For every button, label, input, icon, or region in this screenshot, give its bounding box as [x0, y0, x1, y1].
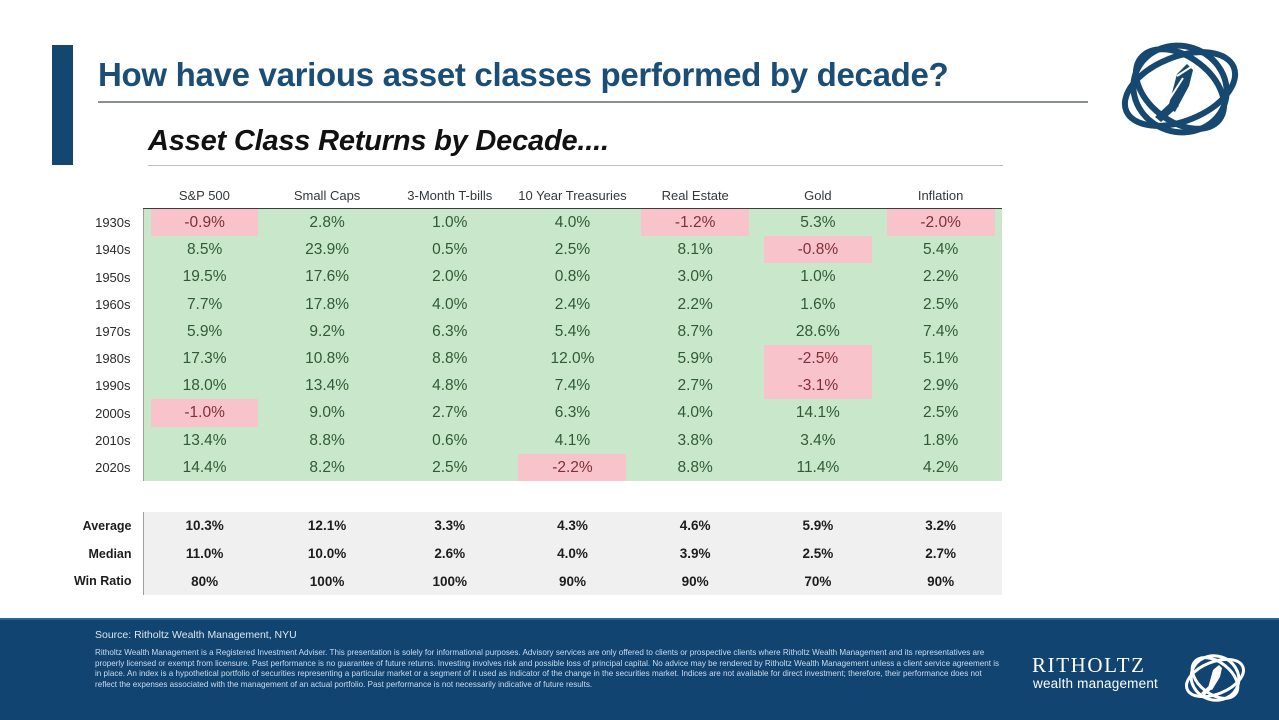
table-row: 1970s5.9%9.2%6.3%5.4%8.7%28.6%7.4%	[52, 318, 1002, 345]
return-value: 8.5%	[151, 236, 259, 263]
summary-cell: 70%	[757, 568, 880, 596]
return-cell: -0.8%	[757, 236, 880, 263]
table-row: 1940s8.5%23.9%0.5%2.5%8.1%-0.8%5.4%	[52, 236, 1002, 263]
return-value: 5.1%	[887, 345, 995, 372]
summary-cell: 100%	[388, 568, 511, 596]
return-cell: 7.4%	[511, 372, 634, 399]
return-value: 8.2%	[273, 454, 381, 481]
rocket-orbit-icon	[1180, 650, 1250, 706]
summary-cell: 10.0%	[266, 540, 389, 568]
page-subtitle: Asset Class Returns by Decade....	[148, 125, 609, 158]
return-value: 4.0%	[641, 399, 749, 426]
return-value: 3.4%	[764, 427, 872, 454]
asset-class-returns-table: S&P 500 Small Caps 3-Month T-bills 10 Ye…	[52, 188, 1002, 481]
return-cell: 1.6%	[757, 291, 880, 318]
summary-cell: 4.0%	[511, 540, 634, 568]
return-value: 10.8%	[273, 345, 381, 372]
return-value: 2.5%	[887, 399, 995, 426]
return-cell: 4.0%	[511, 209, 634, 237]
summary-cell: 100%	[266, 568, 389, 596]
return-cell: 5.4%	[511, 318, 634, 345]
footer-bar: Source: Ritholtz Wealth Management, NYU …	[0, 618, 1279, 720]
return-value: -2.0%	[887, 209, 995, 236]
return-cell: 6.3%	[388, 318, 511, 345]
return-cell: 2.5%	[879, 399, 1002, 426]
return-cell: 3.8%	[634, 427, 757, 454]
return-value: 0.6%	[396, 427, 504, 454]
return-cell: 11.4%	[757, 454, 880, 481]
return-value: 3.8%	[641, 427, 749, 454]
column-header-small-caps: Small Caps	[266, 188, 389, 209]
summary-row: Win Ratio80%100%100%90%90%70%90%	[52, 568, 1002, 596]
return-cell: 4.1%	[511, 427, 634, 454]
return-cell: 19.5%	[143, 263, 266, 290]
return-value: 23.9%	[273, 236, 381, 263]
summary-row-label: Average	[52, 512, 143, 540]
ritholtz-wealth-management-logo: RITHOLTZ wealth management	[1032, 654, 1247, 702]
return-cell: 2.4%	[511, 291, 634, 318]
summary-cell: 90%	[634, 568, 757, 596]
return-cell: 2.5%	[388, 454, 511, 481]
table-row: 1990s18.0%13.4%4.8%7.4%2.7%-3.1%2.9%	[52, 372, 1002, 399]
return-value: 2.2%	[887, 263, 995, 290]
summary-cell: 3.2%	[879, 512, 1002, 540]
return-cell: 12.0%	[511, 345, 634, 372]
summary-cell: 2.7%	[879, 540, 1002, 568]
return-cell: 2.2%	[634, 291, 757, 318]
ritholtz-rocket-orbit-logo	[1113, 34, 1248, 144]
summary-cell: 10.3%	[143, 512, 266, 540]
summary-statistics-table: Average10.3%12.1%3.3%4.3%4.6%5.9%3.2%Med…	[52, 512, 1002, 595]
row-label-decade: 1980s	[52, 345, 143, 372]
return-cell: 5.1%	[879, 345, 1002, 372]
row-label-decade: 1960s	[52, 291, 143, 318]
return-cell: 9.2%	[266, 318, 389, 345]
logo-tagline: wealth management	[1033, 677, 1158, 691]
return-cell: 3.0%	[634, 263, 757, 290]
return-value: 4.0%	[518, 209, 626, 236]
return-cell: 18.0%	[143, 372, 266, 399]
table-row: 1960s7.7%17.8%4.0%2.4%2.2%1.6%2.5%	[52, 291, 1002, 318]
return-cell: 23.9%	[266, 236, 389, 263]
return-value: 2.8%	[273, 209, 381, 236]
return-cell: -2.0%	[879, 209, 1002, 237]
return-cell: -1.2%	[634, 209, 757, 237]
row-label-decade: 1950s	[52, 263, 143, 290]
return-value: -2.2%	[518, 454, 626, 481]
table-row: 2000s-1.0%9.0%2.7%6.3%4.0%14.1%2.5%	[52, 399, 1002, 426]
return-cell: -3.1%	[757, 372, 880, 399]
summary-cell: 3.3%	[388, 512, 511, 540]
return-cell: 0.8%	[511, 263, 634, 290]
return-cell: -2.2%	[511, 454, 634, 481]
row-label-decade: 1930s	[52, 209, 143, 237]
return-value: 1.8%	[887, 427, 995, 454]
return-value: 5.4%	[518, 318, 626, 345]
return-value: 2.9%	[887, 372, 995, 399]
return-cell: -0.9%	[143, 209, 266, 237]
title-accent-bar	[52, 45, 73, 165]
return-cell: 14.4%	[143, 454, 266, 481]
return-value: 0.5%	[396, 236, 504, 263]
return-value: 8.1%	[641, 236, 749, 263]
summary-cell: 5.9%	[757, 512, 880, 540]
row-label-decade: 2020s	[52, 454, 143, 481]
page-title: How have various asset classes performed…	[98, 56, 1088, 94]
return-value: 11.4%	[764, 454, 872, 481]
return-value: 9.0%	[273, 399, 381, 426]
return-cell: 2.5%	[511, 236, 634, 263]
summary-cell: 2.5%	[757, 540, 880, 568]
return-cell: 2.2%	[879, 263, 1002, 290]
summary-row-label: Median	[52, 540, 143, 568]
return-cell: 4.2%	[879, 454, 1002, 481]
return-cell: 1.8%	[879, 427, 1002, 454]
return-value: 4.1%	[518, 427, 626, 454]
return-value: 4.0%	[396, 291, 504, 318]
summary-row: Median11.0%10.0%2.6%4.0%3.9%2.5%2.7%	[52, 540, 1002, 568]
return-cell: 4.0%	[634, 399, 757, 426]
return-cell: 5.9%	[143, 318, 266, 345]
return-cell: 8.1%	[634, 236, 757, 263]
summary-grid: Average10.3%12.1%3.3%4.3%4.6%5.9%3.2%Med…	[52, 512, 1002, 595]
summary-cell: 90%	[511, 568, 634, 596]
table-row: 2020s14.4%8.2%2.5%-2.2%8.8%11.4%4.2%	[52, 454, 1002, 481]
row-label-decade: 1990s	[52, 372, 143, 399]
return-cell: 28.6%	[757, 318, 880, 345]
return-value: 2.5%	[518, 236, 626, 263]
return-value: 2.4%	[518, 291, 626, 318]
return-value: -0.9%	[151, 209, 259, 236]
return-value: 17.3%	[151, 345, 259, 372]
return-value: 2.0%	[396, 263, 504, 290]
summary-cell: 3.9%	[634, 540, 757, 568]
column-header-inflation: Inflation	[879, 188, 1002, 209]
return-value: 0.8%	[518, 263, 626, 290]
return-value: 7.7%	[151, 291, 259, 318]
return-value: 5.3%	[764, 209, 872, 236]
summary-row: Average10.3%12.1%3.3%4.3%4.6%5.9%3.2%	[52, 512, 1002, 540]
summary-row-label: Win Ratio	[52, 568, 143, 596]
summary-cell: 2.6%	[388, 540, 511, 568]
return-cell: 5.4%	[879, 236, 1002, 263]
return-value: 9.2%	[273, 318, 381, 345]
return-cell: 2.5%	[879, 291, 1002, 318]
return-cell: 4.8%	[388, 372, 511, 399]
return-value: 18.0%	[151, 372, 259, 399]
return-cell: 6.3%	[511, 399, 634, 426]
return-value: 4.8%	[396, 372, 504, 399]
return-cell: 17.3%	[143, 345, 266, 372]
summary-cell: 80%	[143, 568, 266, 596]
return-cell: 9.0%	[266, 399, 389, 426]
return-cell: 0.5%	[388, 236, 511, 263]
summary-cell: 4.6%	[634, 512, 757, 540]
column-header-sp500: S&P 500	[143, 188, 266, 209]
return-value: -3.1%	[764, 372, 872, 399]
return-value: 7.4%	[887, 318, 995, 345]
return-cell: 0.6%	[388, 427, 511, 454]
column-header-gold: Gold	[757, 188, 880, 209]
subtitle-divider	[148, 165, 1003, 166]
return-cell: 2.9%	[879, 372, 1002, 399]
return-cell: 2.0%	[388, 263, 511, 290]
return-cell: 8.5%	[143, 236, 266, 263]
return-cell: 7.7%	[143, 291, 266, 318]
return-value: -1.2%	[641, 209, 749, 236]
return-value: -2.5%	[764, 345, 872, 372]
return-cell: -2.5%	[757, 345, 880, 372]
return-cell: 2.7%	[634, 372, 757, 399]
return-value: 2.7%	[396, 399, 504, 426]
returns-grid: S&P 500 Small Caps 3-Month T-bills 10 Ye…	[52, 188, 1002, 481]
return-value: 19.5%	[151, 263, 259, 290]
return-value: 1.0%	[764, 263, 872, 290]
return-value: 1.6%	[764, 291, 872, 318]
return-value: 5.9%	[641, 345, 749, 372]
return-value: 2.5%	[887, 291, 995, 318]
logo-wordmark: RITHOLTZ	[1032, 654, 1180, 676]
return-value: 8.8%	[641, 454, 749, 481]
return-cell: 1.0%	[757, 263, 880, 290]
return-cell: 8.2%	[266, 454, 389, 481]
row-label-decade: 2010s	[52, 427, 143, 454]
return-value: 7.4%	[518, 372, 626, 399]
row-label-decade: 1970s	[52, 318, 143, 345]
table-row: 1930s-0.9%2.8%1.0%4.0%-1.2%5.3%-2.0%	[52, 209, 1002, 237]
table-row: 1950s19.5%17.6%2.0%0.8%3.0%1.0%2.2%	[52, 263, 1002, 290]
return-value: 1.0%	[396, 209, 504, 236]
return-value: 6.3%	[518, 399, 626, 426]
return-value: 8.8%	[396, 345, 504, 372]
return-cell: 7.4%	[879, 318, 1002, 345]
return-cell: 1.0%	[388, 209, 511, 237]
return-value: -0.8%	[764, 236, 872, 263]
return-value: 8.7%	[641, 318, 749, 345]
return-value: 5.4%	[887, 236, 995, 263]
column-header-decade	[52, 188, 143, 209]
return-value: 5.9%	[151, 318, 259, 345]
return-cell: 8.7%	[634, 318, 757, 345]
return-cell: 14.1%	[757, 399, 880, 426]
return-value: 17.8%	[273, 291, 381, 318]
source-attribution: Source: Ritholtz Wealth Management, NYU	[95, 629, 297, 641]
return-value: 2.7%	[641, 372, 749, 399]
row-label-decade: 2000s	[52, 399, 143, 426]
summary-cell: 11.0%	[143, 540, 266, 568]
return-value: 13.4%	[151, 427, 259, 454]
table-row: 1980s17.3%10.8%8.8%12.0%5.9%-2.5%5.1%	[52, 345, 1002, 372]
return-cell: 8.8%	[634, 454, 757, 481]
return-value: 17.6%	[273, 263, 381, 290]
summary-cell: 4.3%	[511, 512, 634, 540]
return-cell: 8.8%	[388, 345, 511, 372]
return-cell: 3.4%	[757, 427, 880, 454]
return-cell: 5.9%	[634, 345, 757, 372]
return-cell: 17.6%	[266, 263, 389, 290]
return-cell: 5.3%	[757, 209, 880, 237]
return-cell: 13.4%	[266, 372, 389, 399]
table-header-row: S&P 500 Small Caps 3-Month T-bills 10 Ye…	[52, 188, 1002, 209]
return-cell: 13.4%	[143, 427, 266, 454]
summary-cell: 12.1%	[266, 512, 389, 540]
return-value: 3.0%	[641, 263, 749, 290]
column-header-tbills: 3-Month T-bills	[388, 188, 511, 209]
return-value: 13.4%	[273, 372, 381, 399]
return-cell: 10.8%	[266, 345, 389, 372]
return-value: 28.6%	[764, 318, 872, 345]
table-row: 2010s13.4%8.8%0.6%4.1%3.8%3.4%1.8%	[52, 427, 1002, 454]
return-value: 6.3%	[396, 318, 504, 345]
summary-cell: 90%	[879, 568, 1002, 596]
return-value: -1.0%	[151, 399, 259, 426]
return-value: 14.1%	[764, 399, 872, 426]
column-header-treasuries: 10 Year Treasuries	[511, 188, 634, 209]
title-divider	[98, 101, 1088, 103]
row-label-decade: 1940s	[52, 236, 143, 263]
return-value: 8.8%	[273, 427, 381, 454]
return-cell: 8.8%	[266, 427, 389, 454]
return-value: 12.0%	[518, 345, 626, 372]
return-cell: 2.8%	[266, 209, 389, 237]
return-value: 2.5%	[396, 454, 504, 481]
return-value: 14.4%	[151, 454, 259, 481]
return-cell: 17.8%	[266, 291, 389, 318]
legal-disclaimer: Ritholtz Wealth Management is a Register…	[95, 648, 1005, 690]
return-cell: 4.0%	[388, 291, 511, 318]
return-cell: -1.0%	[143, 399, 266, 426]
return-value: 4.2%	[887, 454, 995, 481]
column-header-real-estate: Real Estate	[634, 188, 757, 209]
return-cell: 2.7%	[388, 399, 511, 426]
return-value: 2.2%	[641, 291, 749, 318]
